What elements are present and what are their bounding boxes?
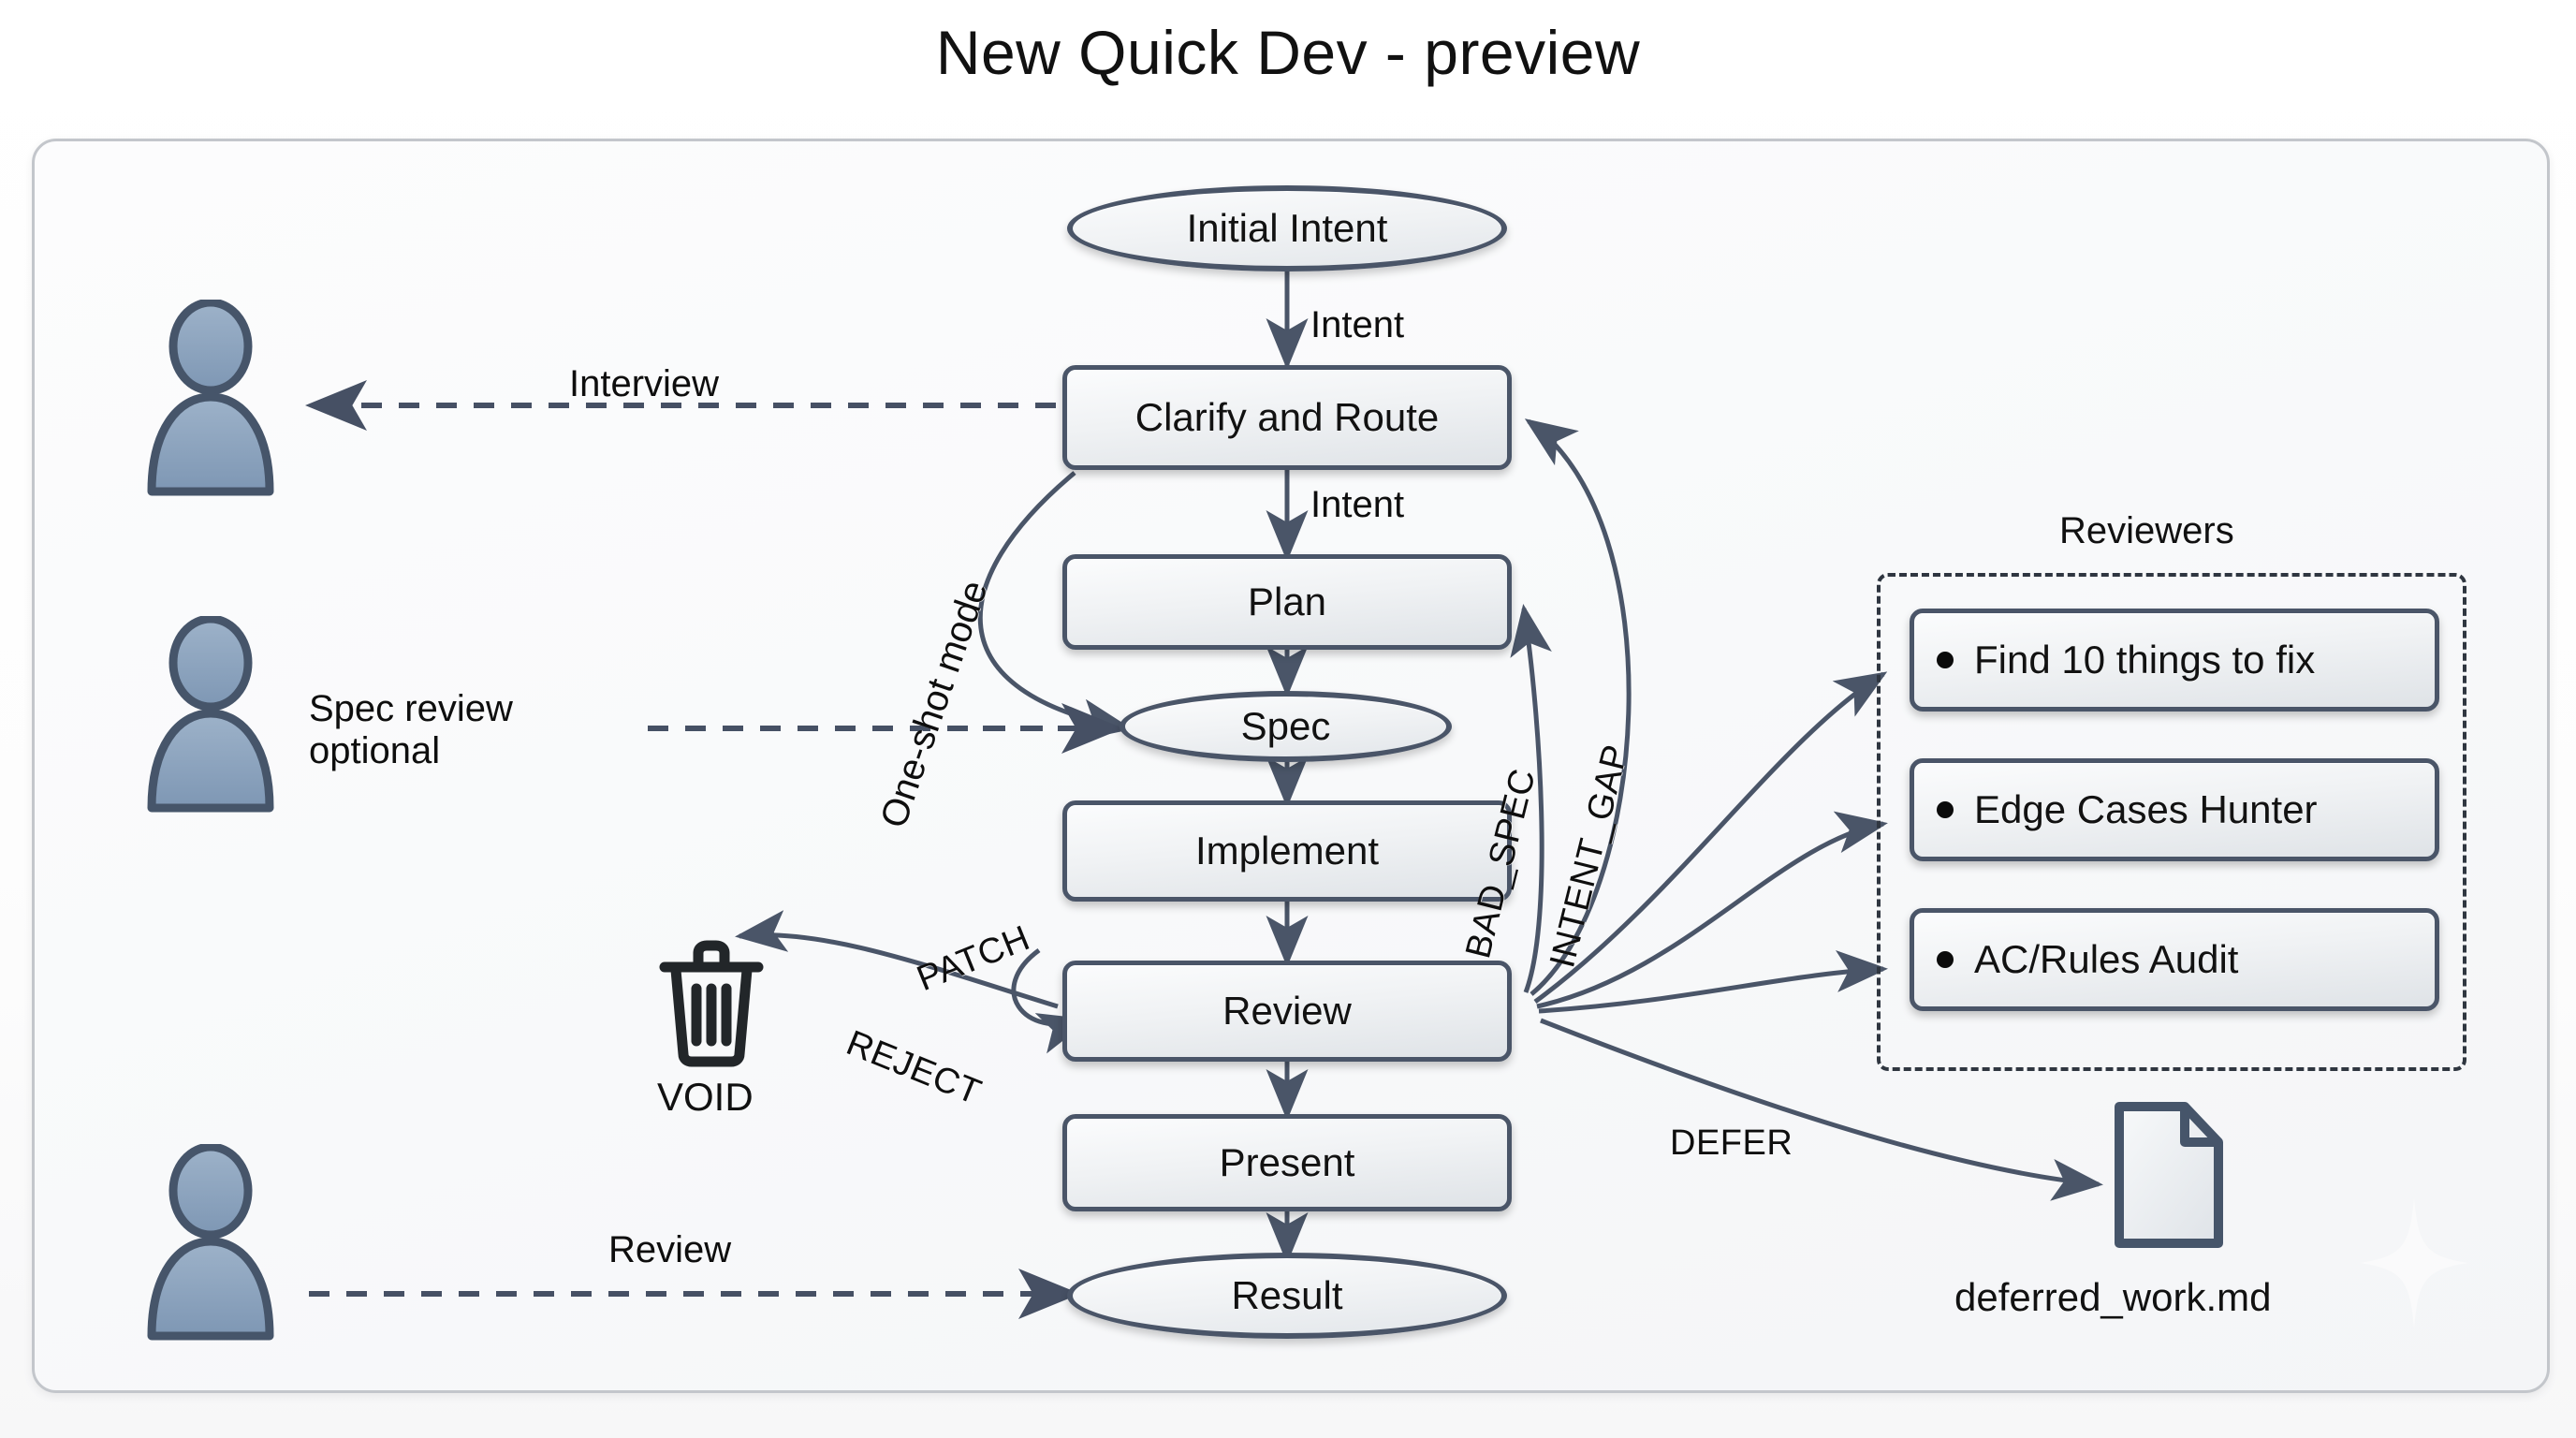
person-actor-icon	[140, 1144, 281, 1341]
node-review[interactable]: Review	[1062, 961, 1512, 1062]
void-caption: VOID	[657, 1075, 754, 1120]
bullet-icon	[1937, 801, 1954, 818]
file-document-icon	[2108, 1095, 2230, 1255]
actor-result-reviewer[interactable]	[140, 1144, 281, 1341]
reviewers-title: Reviewers	[2059, 510, 2234, 552]
person-actor-icon	[140, 300, 281, 496]
edge-label-interview: Interview	[569, 363, 719, 405]
deferred-work-caption: deferred_work.md	[1954, 1275, 2271, 1320]
node-spec-label: Spec	[1241, 704, 1331, 749]
node-present[interactable]: Present	[1062, 1114, 1512, 1211]
edge-label-review-actor: Review	[608, 1229, 731, 1271]
reviewer-item-ac-rules-audit[interactable]: AC/Rules Audit	[1910, 908, 2439, 1011]
node-spec[interactable]: Spec	[1120, 691, 1452, 762]
void-artifact[interactable]	[655, 936, 768, 1072]
reviewer-item-label: Edge Cases Hunter	[1974, 787, 2318, 832]
node-clarify-and-route[interactable]: Clarify and Route	[1062, 365, 1512, 470]
node-initial-intent[interactable]: Initial Intent	[1067, 185, 1507, 271]
node-review-label: Review	[1222, 989, 1352, 1034]
node-clarify-and-route-label: Clarify and Route	[1135, 395, 1440, 440]
edge-label-spec-review-optional: Spec review optional	[309, 688, 513, 772]
reviewer-item-label: Find 10 things to fix	[1974, 638, 2315, 682]
reviewer-item-find-10-things-to-fix[interactable]: Find 10 things to fix	[1910, 609, 2439, 712]
node-initial-intent-label: Initial Intent	[1187, 206, 1388, 251]
node-result[interactable]: Result	[1067, 1253, 1507, 1339]
person-actor-icon	[140, 616, 281, 813]
node-implement[interactable]: Implement	[1062, 800, 1512, 902]
node-plan[interactable]: Plan	[1062, 554, 1512, 650]
reviewer-item-edge-cases-hunter[interactable]: Edge Cases Hunter	[1910, 758, 2439, 861]
node-plan-label: Plan	[1248, 580, 1326, 624]
node-result-label: Result	[1231, 1273, 1342, 1318]
edge-label-intent-1: Intent	[1310, 304, 1404, 346]
node-implement-label: Implement	[1195, 829, 1379, 873]
bullet-icon	[1937, 652, 1954, 668]
edge-label-intent-2: Intent	[1310, 484, 1404, 526]
diagram-canvas: New Quick Dev - preview	[0, 0, 2576, 1438]
reviewer-item-label: AC/Rules Audit	[1974, 937, 2238, 982]
bullet-icon	[1937, 951, 1954, 968]
actor-interviewee[interactable]	[140, 300, 281, 496]
edge-label-defer: DEFER	[1670, 1123, 1793, 1164]
trash-icon	[655, 936, 768, 1067]
deferred-work-artifact[interactable]	[2108, 1095, 2230, 1259]
actor-spec-reviewer[interactable]	[140, 616, 281, 813]
node-present-label: Present	[1220, 1140, 1355, 1185]
